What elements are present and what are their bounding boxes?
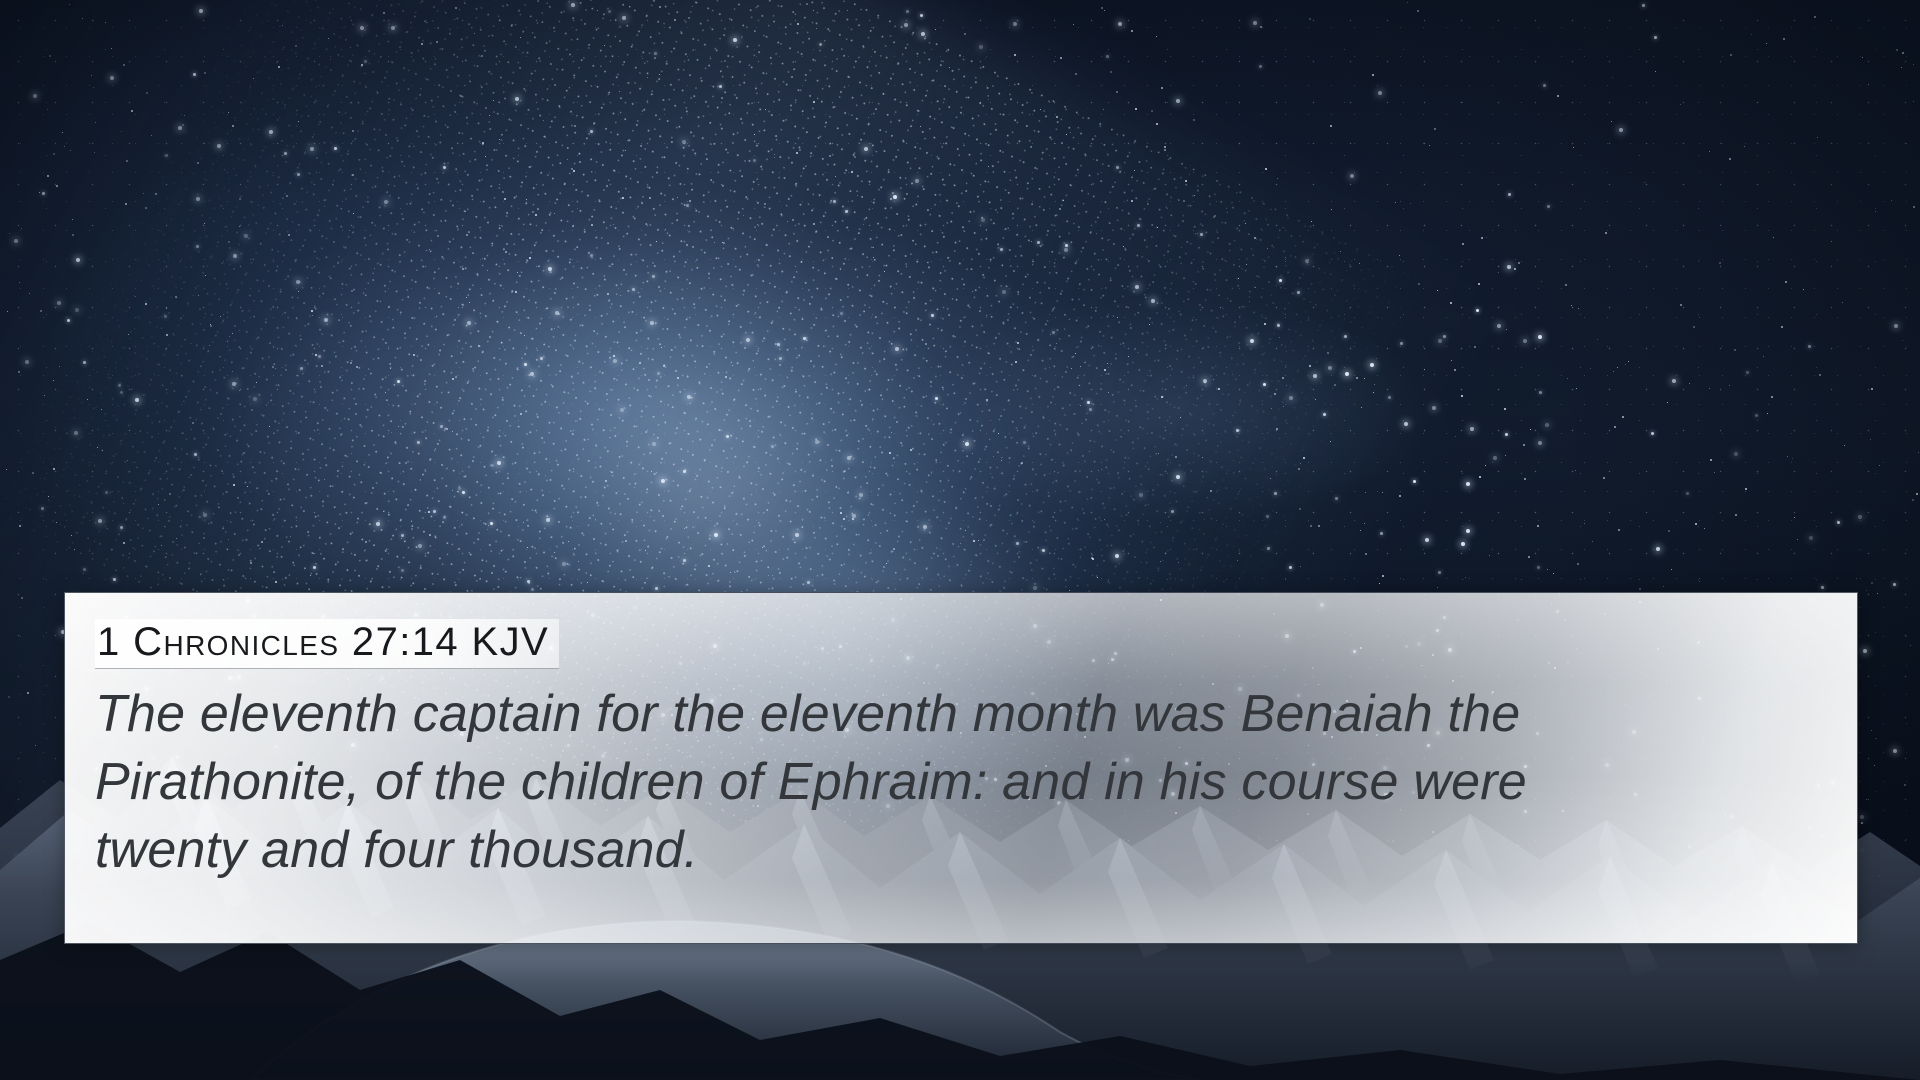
verse-body-text: The eleventh captain for the eleventh mo… (95, 681, 1595, 884)
verse-image-canvas: 1 Chronicles 27:14 KJV The eleventh capt… (0, 0, 1920, 1080)
verse-line-1: The eleventh captain for the eleventh mo… (95, 685, 1226, 743)
verse-reference: 1 Chronicles 27:14 KJV (97, 621, 549, 663)
verse-overlay-panel: 1 Chronicles 27:14 KJV The eleventh capt… (64, 592, 1858, 944)
verse-reference-highlight: 1 Chronicles 27:14 KJV (95, 619, 559, 669)
